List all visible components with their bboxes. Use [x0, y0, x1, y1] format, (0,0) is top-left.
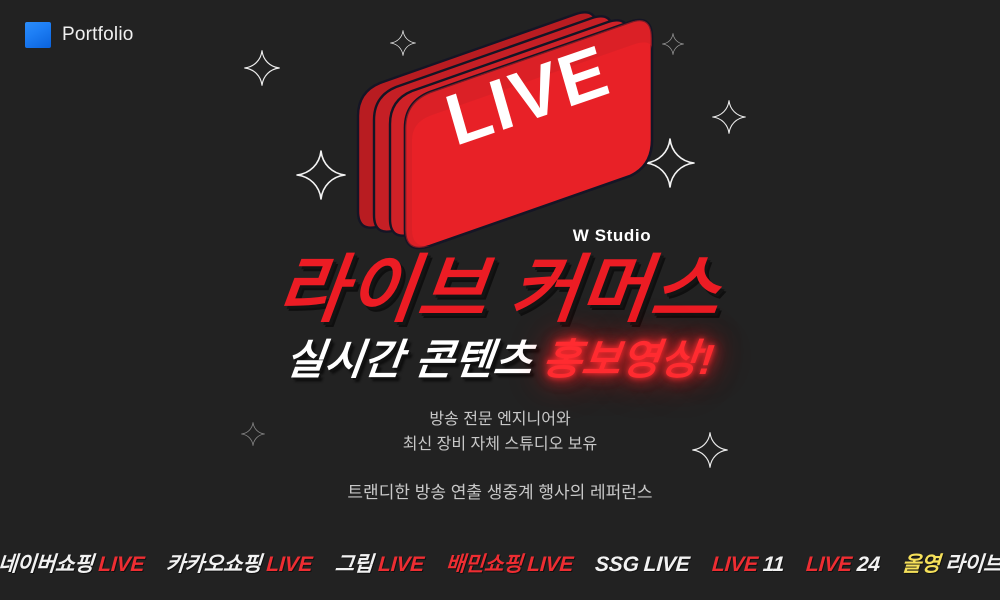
- description-line-1: 방송 전문 엔지니어와: [0, 408, 1000, 433]
- brand-olive-young-live: 올영라이브: [901, 548, 1000, 578]
- brand-segment: 라이브: [944, 553, 1000, 576]
- portfolio-square-icon: [25, 22, 51, 48]
- description-line-2: 최신 장비 자체 스튜디오 보유: [0, 433, 1000, 458]
- brand-segment: LIVE: [526, 553, 573, 576]
- portfolio-logo[interactable]: Portfolio: [25, 22, 134, 48]
- brand-ssg-live: SSGLIVE: [594, 553, 690, 577]
- brand-segment: 그립: [334, 553, 374, 576]
- brand-live-24: LIVE24: [805, 553, 881, 577]
- description-block-2: 트랜디한 방송 연출 생중계 행사의 레퍼런스: [0, 478, 1000, 503]
- brand-grip-live: 그립LIVE: [333, 548, 424, 578]
- headline-secondary-red: 홍보영상!: [540, 336, 717, 383]
- logo-text: Portfolio: [62, 24, 134, 46]
- four-point-sparkle-icon: [244, 50, 280, 86]
- brand-segment: LIVE: [805, 553, 852, 576]
- brand-segment: 올영: [901, 553, 941, 576]
- brand-segment: LIVE: [377, 553, 424, 576]
- headline-secondary-white: 실시간 콘텐츠: [283, 336, 536, 383]
- promo-banner: { "header": { "logo_icon": "portfolio-sq…: [0, 0, 1000, 600]
- brand-segment: LIVE: [97, 553, 144, 576]
- brand-segment: 배민쇼핑: [445, 553, 523, 576]
- brand-segment: 카카오쇼핑: [165, 553, 262, 576]
- brand-logo-strip: 네이버쇼핑LIVE카카오쇼핑LIVE그립LIVE배민쇼핑LIVESSGLIVEL…: [0, 548, 1000, 578]
- brand-live-11: LIVE11: [711, 553, 785, 577]
- brand-segment: 네이버쇼핑: [0, 553, 94, 576]
- brand-segment: LIVE: [266, 553, 313, 576]
- description-block-1: 방송 전문 엔지니어와 최신 장비 자체 스튜디오 보유: [0, 408, 1000, 458]
- brand-kakao-shopping-live: 카카오쇼핑LIVE: [165, 548, 314, 578]
- brand-segment: LIVE: [643, 553, 690, 576]
- brand-segment: LIVE: [711, 553, 758, 576]
- studio-label: W Studio: [0, 226, 1000, 246]
- brand-segment: 24: [856, 553, 881, 576]
- brand-baemin-shopping-live: 배민쇼핑LIVE: [445, 548, 574, 578]
- headline-secondary: 실시간 콘텐츠홍보영상!: [0, 338, 1000, 382]
- brand-naver-shopping-live: 네이버쇼핑LIVE: [0, 548, 145, 578]
- page-title: 라이브 커머스: [0, 252, 1000, 327]
- brand-segment: SSG: [594, 553, 639, 576]
- brand-segment: 11: [762, 553, 785, 576]
